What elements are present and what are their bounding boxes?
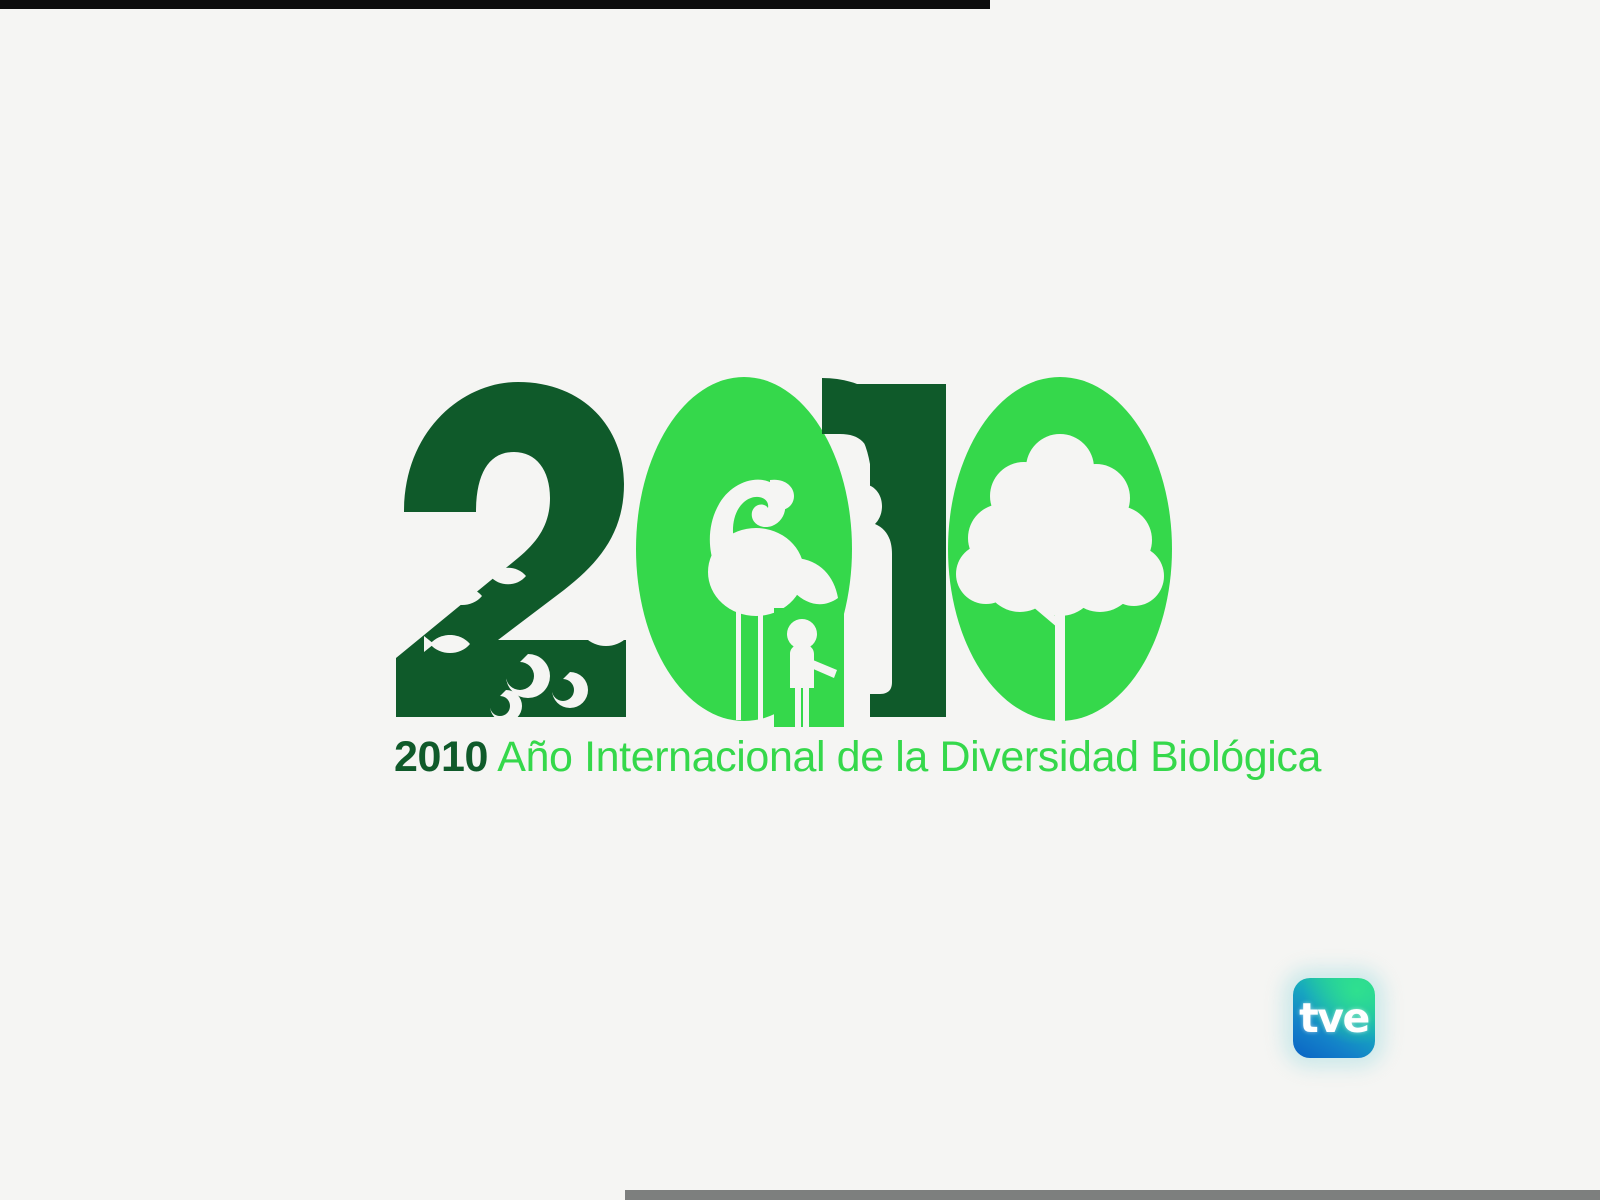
tve-channel-logo: tve — [1293, 978, 1375, 1058]
biodiversity-logo: 2010 Año Internacional de la Diversidad … — [378, 372, 1188, 792]
top-letterbox-bar — [0, 0, 990, 9]
logo-digit-zero-tree — [378, 372, 1188, 727]
logo-tagline: 2010 Año Internacional de la Diversidad … — [394, 736, 1184, 779]
logo-mark-graphic — [378, 372, 1188, 727]
tve-wordmark: tve — [1299, 998, 1369, 1039]
tagline-phrase-text: Año Internacional de la Diversidad Bioló… — [497, 733, 1321, 781]
bottom-letterbox-bar — [625, 1190, 1600, 1200]
tagline-phrase — [488, 733, 497, 781]
tagline-year: 2010 — [394, 733, 488, 781]
broadcast-frame: 2010 Año Internacional de la Diversidad … — [0, 0, 1600, 1200]
